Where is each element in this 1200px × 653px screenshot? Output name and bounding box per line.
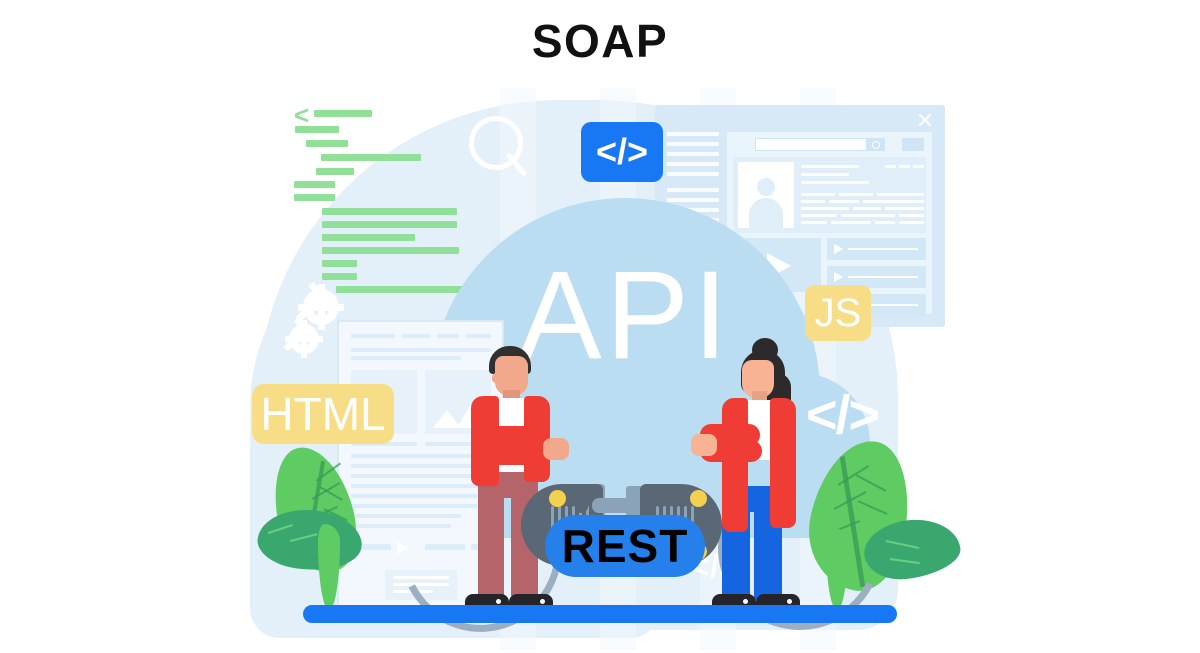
- play-icon[interactable]: [834, 272, 843, 282]
- leg: [478, 478, 504, 598]
- ground-bar: [303, 605, 897, 623]
- search-icon[interactable]: [867, 138, 885, 151]
- code-badge[interactable]: </>: [581, 122, 663, 182]
- illustration-scene: < >: [0, 88, 1200, 650]
- play-icon[interactable]: [834, 244, 843, 254]
- hand: [543, 438, 569, 460]
- profile-card: [733, 157, 926, 233]
- code-decoration-icon: </>: [806, 384, 878, 446]
- screw: [690, 490, 707, 507]
- page-title: SOAP: [0, 14, 1200, 68]
- coat: [722, 398, 748, 532]
- js-badge[interactable]: JS: [805, 285, 871, 341]
- hand: [691, 434, 717, 456]
- close-icon[interactable]: [917, 112, 933, 128]
- code-open-angle: <: [294, 102, 309, 128]
- toolbar-button[interactable]: [902, 138, 924, 151]
- playlist-item[interactable]: [827, 238, 926, 260]
- ear: [492, 373, 500, 383]
- rest-badge[interactable]: REST: [545, 515, 705, 577]
- avatar: [738, 162, 794, 228]
- screw: [549, 490, 566, 507]
- illustration-canvas: SOAP < >: [0, 0, 1200, 650]
- search-input[interactable]: [755, 138, 867, 151]
- coat: [770, 398, 796, 528]
- arm: [478, 443, 550, 465]
- html-badge[interactable]: HTML: [252, 384, 394, 444]
